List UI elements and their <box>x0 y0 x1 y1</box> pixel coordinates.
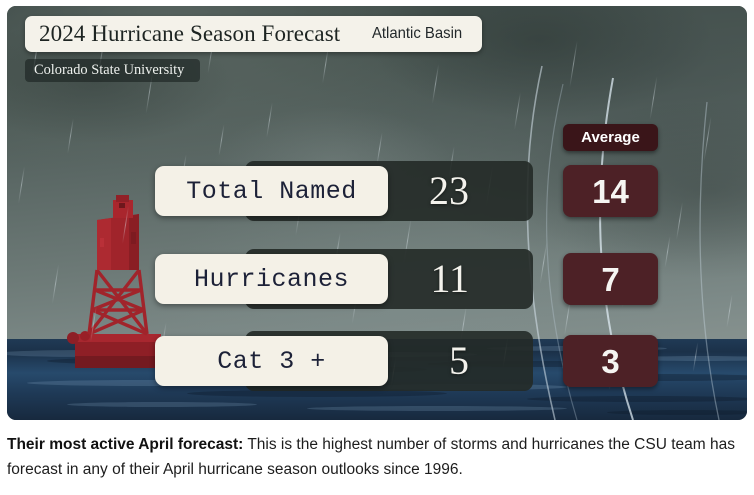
average-header-label: Average <box>581 129 640 146</box>
source-badge: Colorado State University <box>25 59 200 82</box>
average-value-box: 3 <box>563 335 658 387</box>
page-title: 2024 Hurricane Season Forecast <box>39 21 340 47</box>
average-value: 14 <box>592 175 629 208</box>
caption: Their most active April forecast: This i… <box>7 432 745 482</box>
chart-title-bar: 2024 Hurricane Season Forecast Atlantic … <box>25 16 482 52</box>
infographic-page: 2024 Hurricane Season Forecast Atlantic … <box>0 0 754 495</box>
average-value-box: 14 <box>563 165 658 217</box>
caption-lead: Their most active April forecast: <box>7 436 243 453</box>
average-header-badge: Average <box>563 124 658 151</box>
basin-label: Atlantic Basin <box>372 25 462 43</box>
source-label: Colorado State University <box>34 62 184 79</box>
average-value-box: 7 <box>563 253 658 305</box>
forecast-graphic-card: 2024 Hurricane Season Forecast Atlantic … <box>7 6 747 420</box>
average-value: 7 <box>601 263 619 296</box>
average-value: 3 <box>601 345 619 378</box>
